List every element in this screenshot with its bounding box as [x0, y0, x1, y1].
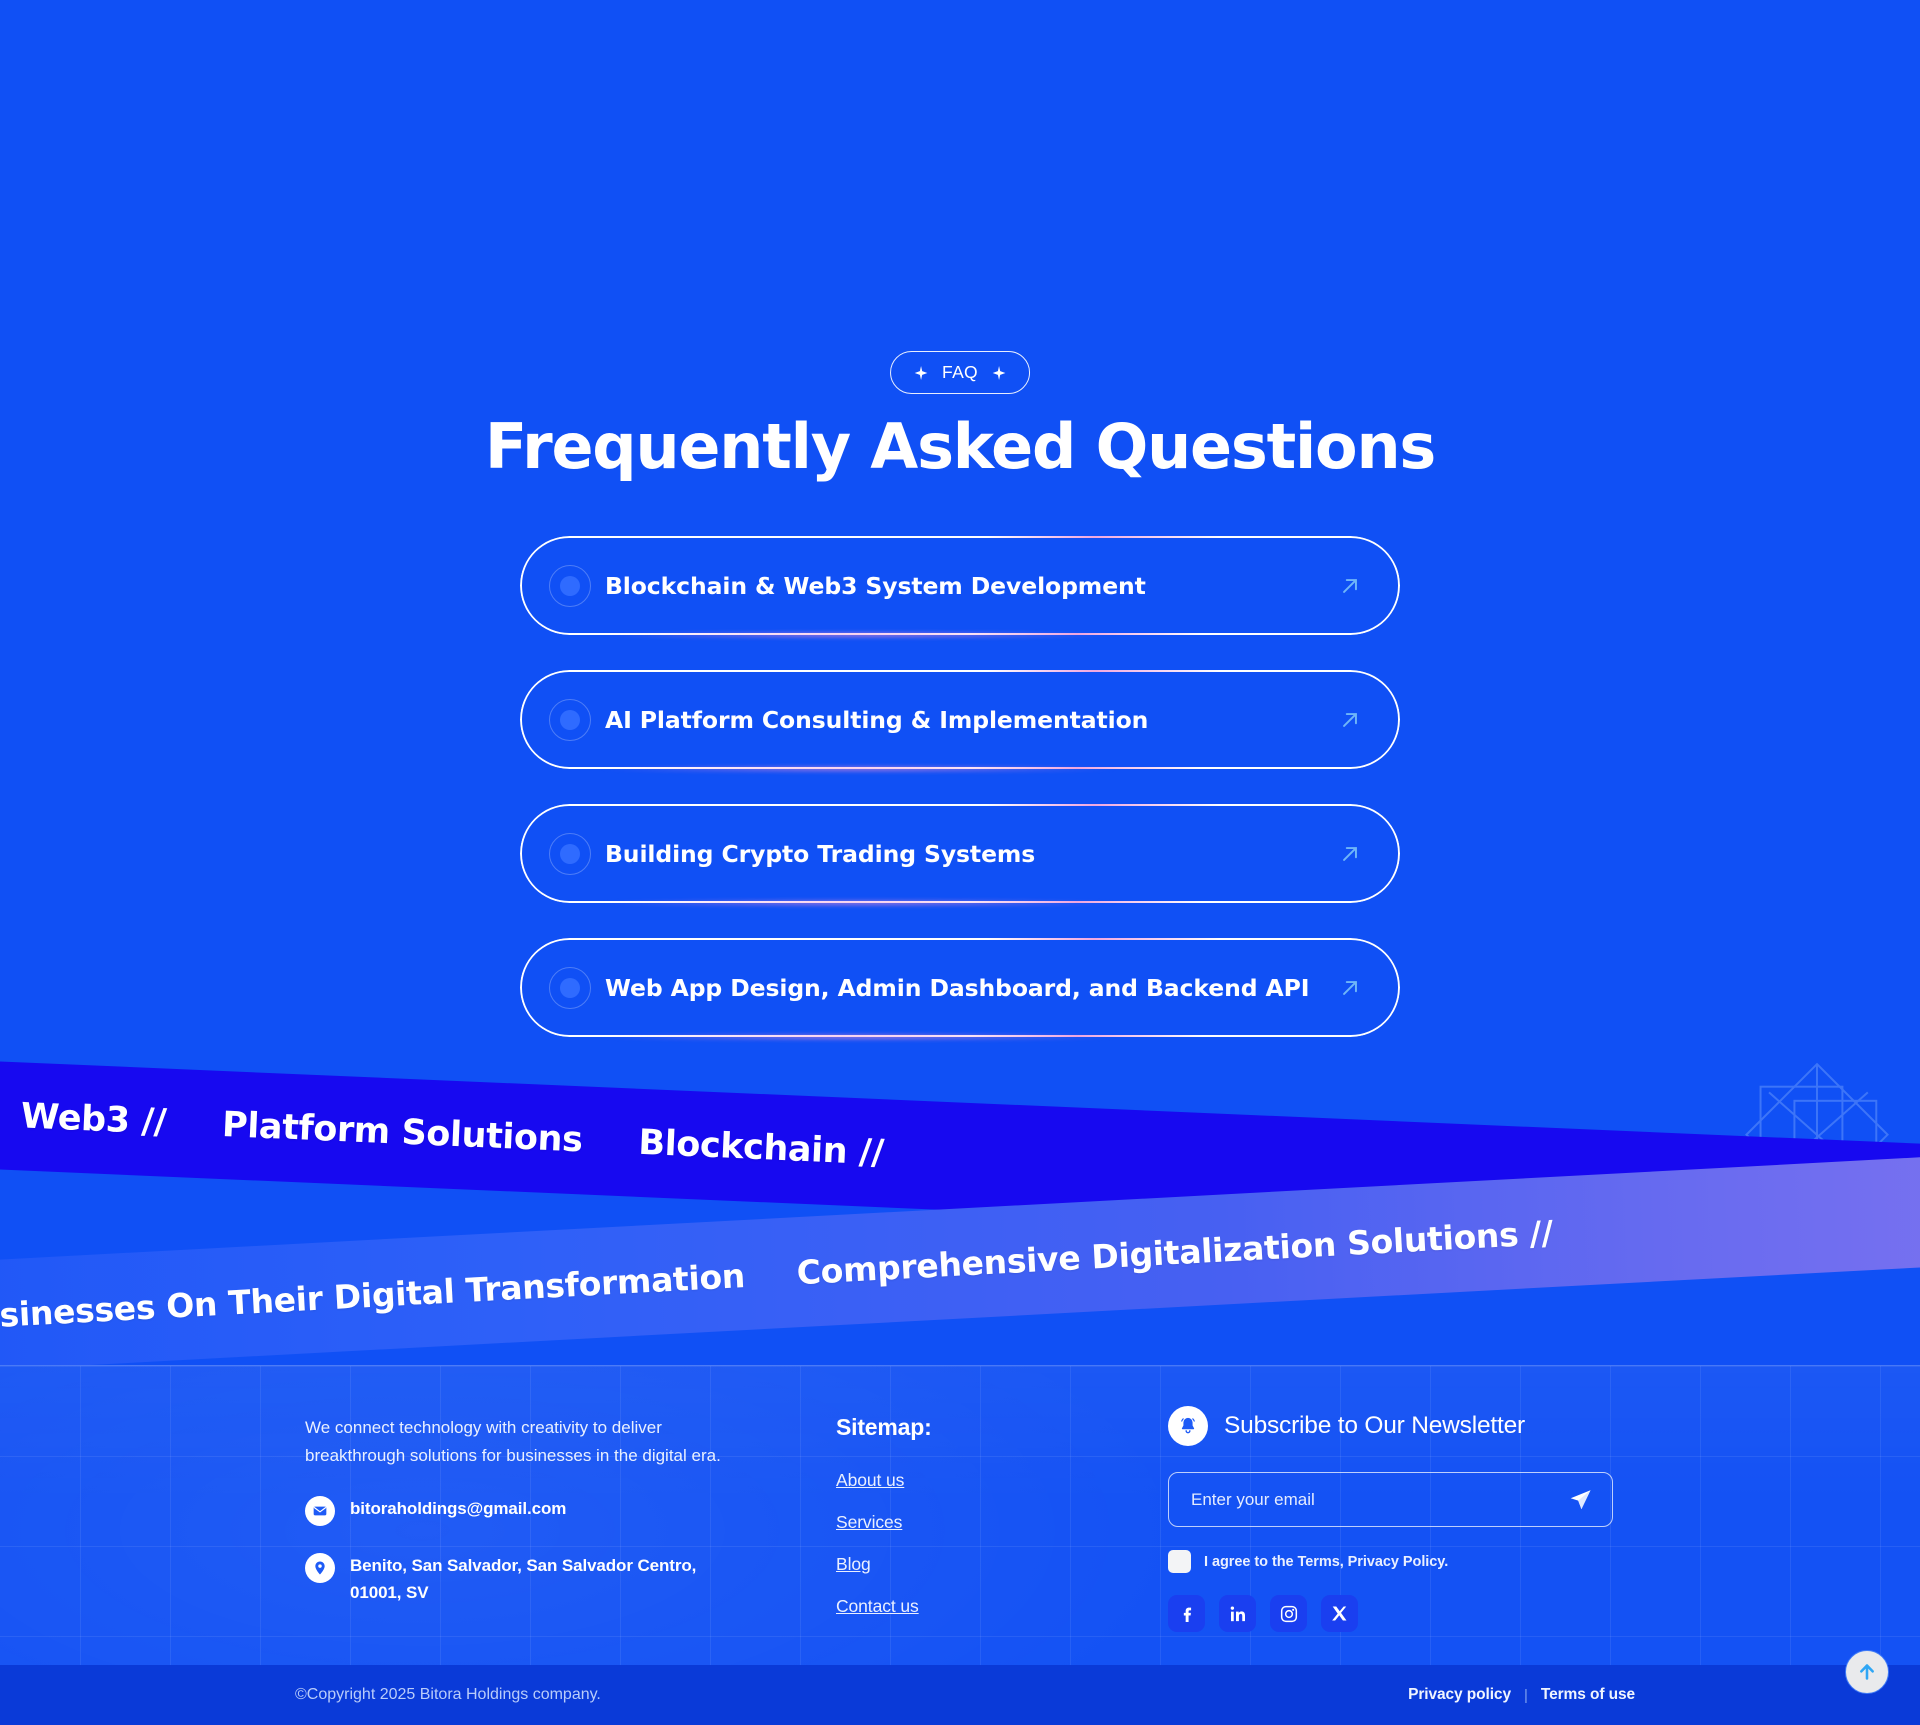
bullet-indicator-icon — [549, 833, 591, 875]
faq-accordion-item[interactable]: Blockchain & Web3 System Development — [520, 536, 1400, 635]
terms-of-use-link[interactable]: Terms of use — [1541, 1686, 1635, 1704]
marquee-item: anying Businesses On Their Digital Trans… — [0, 1256, 746, 1344]
faq-section: FAQ Frequently Asked Questions Blockchai… — [0, 0, 1920, 1085]
about-text: We connect technology with creativity to… — [305, 1414, 735, 1469]
agree-terms-row[interactable]: I agree to the Terms, Privacy Policy. — [1168, 1550, 1618, 1573]
bullet-indicator-icon — [549, 699, 591, 741]
footer: We connect technology with creativity to… — [0, 1365, 1920, 1665]
map-pin-icon — [305, 1553, 335, 1583]
sitemap-heading: Sitemap: — [836, 1414, 1066, 1441]
email-input[interactable] — [1191, 1490, 1556, 1510]
marquee-item: Blockchain // — [638, 1123, 885, 1173]
arrow-up-right-icon[interactable] — [1337, 707, 1363, 733]
page-root: FAQ Frequently Asked Questions Blockchai… — [0, 0, 1920, 1725]
marquee-item: Platform Solutions — [221, 1105, 583, 1160]
faq-accordion-item[interactable]: AI Platform Consulting & Implementation — [520, 670, 1400, 769]
footer-about-column: We connect technology with creativity to… — [305, 1414, 735, 1606]
legal-separator: | — [1524, 1687, 1528, 1704]
faq-item-label: Blockchain & Web3 System Development — [605, 572, 1146, 600]
privacy-policy-link[interactable]: Privacy policy — [1408, 1686, 1511, 1704]
facebook-icon[interactable] — [1168, 1595, 1205, 1632]
contact-address-text: Benito, San Salvador, San Salvador Centr… — [350, 1552, 735, 1606]
sidebar-item-services[interactable]: Services — [836, 1512, 1066, 1533]
social-links — [1168, 1595, 1618, 1632]
sparkle-icon — [913, 365, 929, 381]
agree-checkbox[interactable] — [1168, 1550, 1191, 1573]
bottom-bar: ©Copyright 2025 Bitora Holdings company.… — [0, 1665, 1920, 1725]
arrow-up-right-icon[interactable] — [1337, 975, 1363, 1001]
sidebar-item-blog[interactable]: Blog — [836, 1554, 1066, 1575]
sidebar-item-contact-us[interactable]: Contact us — [836, 1596, 1066, 1617]
marquee-item: Web3 // — [20, 1096, 167, 1142]
instagram-icon[interactable] — [1270, 1595, 1307, 1632]
paper-plane-icon — [1568, 1487, 1593, 1512]
marquee-item: Comprehensive Digitalization Solutions /… — [796, 1212, 1554, 1291]
contact-email-row[interactable]: bitoraholdings@gmail.com — [305, 1495, 735, 1526]
sparkle-icon — [991, 365, 1007, 381]
bullet-indicator-icon — [549, 565, 591, 607]
footer-newsletter-column: Subscribe to Our Newsletter I agree to t… — [1168, 1406, 1618, 1632]
faq-accordion-list: Blockchain & Web3 System Development AI … — [520, 536, 1400, 1072]
faq-badge-label: FAQ — [942, 362, 978, 383]
faq-accordion-item[interactable]: Web App Design, Admin Dashboard, and Bac… — [520, 938, 1400, 1037]
copyright-text: ©Copyright 2025 Bitora Holdings company. — [295, 1686, 601, 1704]
faq-item-label: Web App Design, Admin Dashboard, and Bac… — [605, 974, 1309, 1002]
faq-item-label: Building Crypto Trading Systems — [605, 840, 1035, 868]
bullet-indicator-icon — [549, 967, 591, 1009]
subscribe-send-button[interactable] — [1566, 1486, 1594, 1514]
marquee-section: Web3 // Platform Solutions Blockchain //… — [0, 1040, 1920, 1370]
faq-accordion-item[interactable]: Building Crypto Trading Systems — [520, 804, 1400, 903]
newsletter-title: Subscribe to Our Newsletter — [1224, 1412, 1525, 1440]
linkedin-icon[interactable] — [1219, 1595, 1256, 1632]
contact-email-text: bitoraholdings@gmail.com — [350, 1495, 566, 1522]
sidebar-item-about-us[interactable]: About us — [836, 1470, 1066, 1491]
page-title: Frequently Asked Questions — [0, 410, 1920, 483]
legal-links: Privacy policy | Terms of use — [1408, 1686, 1635, 1704]
faq-badge: FAQ — [890, 351, 1030, 394]
arrow-up-icon — [1856, 1661, 1878, 1683]
agree-terms-label: I agree to the Terms, Privacy Policy. — [1204, 1554, 1448, 1570]
newsletter-form[interactable] — [1168, 1472, 1613, 1527]
contact-address-row: Benito, San Salvador, San Salvador Centr… — [305, 1552, 735, 1606]
footer-sitemap-column: Sitemap: About us Services Blog Contact … — [836, 1414, 1066, 1617]
x-twitter-icon[interactable] — [1321, 1595, 1358, 1632]
arrow-up-right-icon[interactable] — [1337, 573, 1363, 599]
envelope-icon — [305, 1496, 335, 1526]
bell-icon — [1168, 1406, 1208, 1446]
arrow-up-right-icon[interactable] — [1337, 841, 1363, 867]
scroll-to-top-button[interactable] — [1845, 1650, 1889, 1694]
faq-item-label: AI Platform Consulting & Implementation — [605, 706, 1148, 734]
